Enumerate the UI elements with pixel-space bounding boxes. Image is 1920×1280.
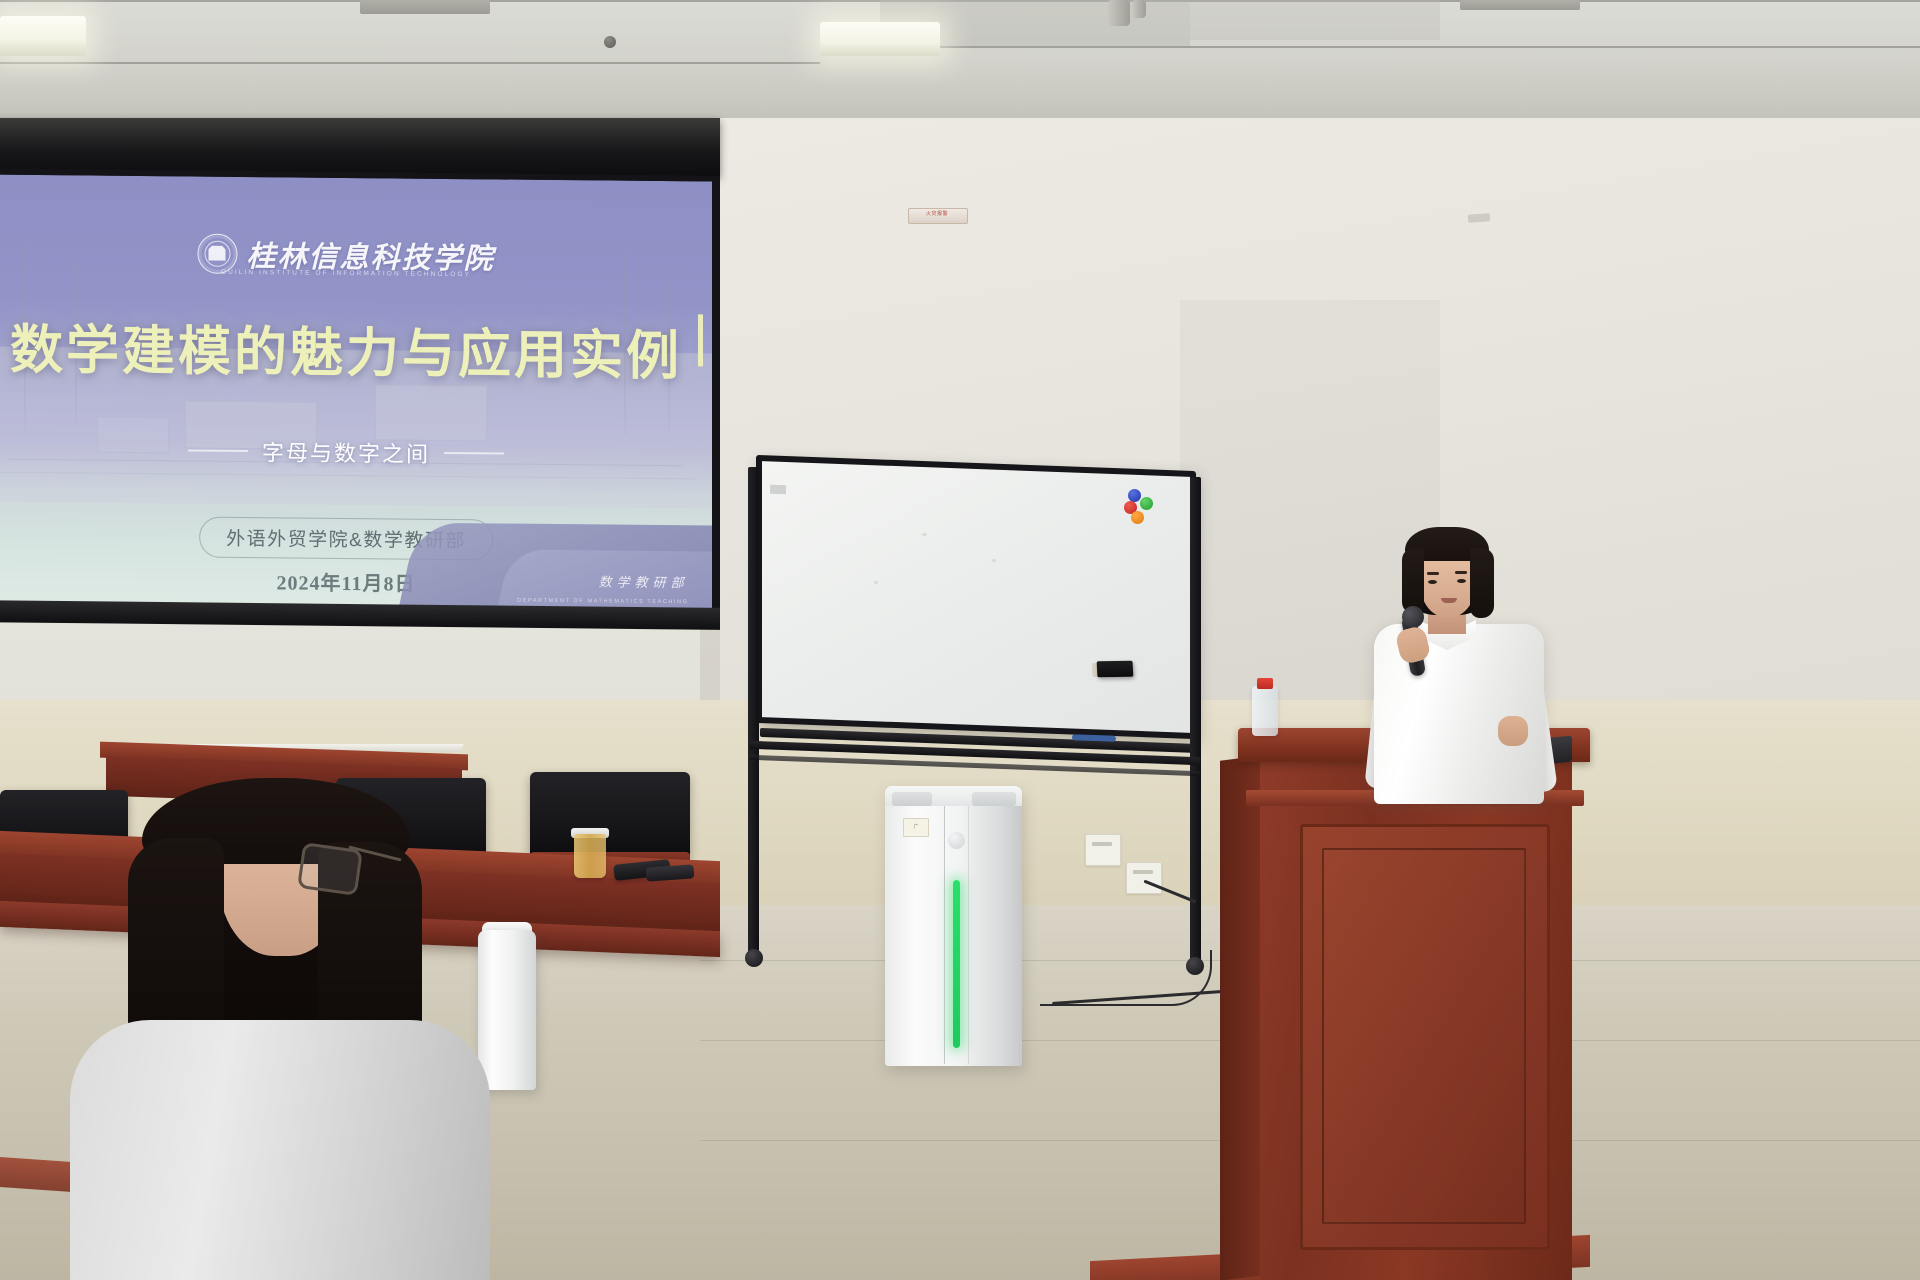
slide-subtitle: 字母与数字之间 — [262, 435, 430, 469]
fire-alarm-label: 火灾报警 — [910, 210, 964, 217]
slide-twig — [24, 287, 48, 300]
attendee-body — [70, 1020, 490, 1280]
projector-screen-housing — [0, 118, 720, 176]
slide-twig — [624, 273, 650, 285]
ceiling-panel — [1190, 0, 1440, 40]
air-purifier-power-button[interactable] — [948, 832, 965, 849]
presenter-hand-right — [1498, 716, 1528, 746]
whiteboard-smudge — [992, 559, 996, 562]
ceiling-vent — [360, 0, 490, 14]
air-purifier-seam — [968, 806, 969, 1064]
presenter-hair-right — [1470, 548, 1494, 618]
ceiling-vent — [1460, 0, 1580, 10]
ceiling-pipe — [1108, 0, 1130, 26]
ceiling-light — [0, 16, 86, 56]
presenter-mouth — [1441, 598, 1457, 603]
thermos-bottle[interactable] — [478, 930, 536, 1090]
whiteboard-sticker — [770, 485, 786, 495]
slide-subtitle-rule-right — [444, 452, 504, 454]
ceiling-light — [820, 22, 940, 56]
slide-institution-name-en: GUILIN INSTITUTE OF INFORMATION TECHNOLO… — [221, 269, 471, 278]
whiteboard-smudge — [874, 581, 878, 584]
slide-building — [375, 385, 487, 442]
slide-twig — [24, 254, 50, 271]
presenter-eye-right — [1457, 579, 1466, 583]
eyeglasses-icon — [297, 842, 363, 896]
tea-cup[interactable] — [574, 834, 606, 878]
projector-screen: 桂林信息科技学院 GUILIN INSTITUTE OF INFORMATION… — [0, 174, 712, 611]
slide-subtitle-rule-left — [188, 450, 248, 452]
presenter-brow-right — [1455, 571, 1467, 574]
whiteboard-eraser[interactable] — [1097, 661, 1134, 678]
socket-slot — [1092, 842, 1112, 846]
podium — [1238, 728, 1590, 1280]
university-seal-icon — [197, 233, 237, 273]
ceiling-seam — [820, 46, 1920, 48]
water-bottle-cap — [1257, 678, 1273, 689]
slide-subtitle-group: 字母与数字之间 — [188, 434, 504, 469]
air-purifier-badge: 广 — [903, 818, 929, 837]
presenter-eye-left — [1428, 580, 1437, 584]
classroom-scene: 火灾报警 桂林信息科技学院 GUILIN INSTITUTE OF INFORM… — [0, 0, 1920, 1280]
air-purifier-grille — [972, 792, 1016, 806]
presenter-brow-left — [1427, 572, 1439, 575]
slide-watermark-cn: 数学教研部 — [599, 572, 689, 592]
whiteboard-caster — [745, 949, 763, 967]
presenter-hair-left — [1402, 548, 1424, 614]
ceiling-speaker-icon — [604, 36, 616, 48]
air-purifier-grille — [892, 792, 932, 806]
wall-scuff — [1468, 213, 1491, 223]
air-purifier-seam — [944, 806, 945, 1064]
chair-back[interactable] — [530, 772, 690, 860]
socket-slot — [1133, 870, 1153, 874]
slide-title: 数学建模的魅力与应用实例 — [10, 308, 682, 390]
air-purifier-status-led — [953, 880, 960, 1048]
whiteboard-leg-right — [1190, 477, 1201, 963]
podium-front-inset — [1322, 848, 1526, 1224]
ceiling-seam — [0, 62, 820, 64]
slide-date: 2024年11月8日 — [277, 566, 416, 596]
magnet-orange[interactable] — [1131, 511, 1144, 524]
presentation-slide: 桂林信息科技学院 GUILIN INSTITUTE OF INFORMATION… — [0, 174, 712, 611]
slide-title-accent-bar — [698, 315, 703, 367]
water-bottle[interactable] — [1252, 686, 1278, 736]
podium-side-panel — [1220, 755, 1264, 1280]
wall-socket[interactable] — [1126, 862, 1162, 894]
whiteboard-smudge — [922, 533, 927, 536]
wall-socket[interactable] — [1085, 834, 1121, 866]
whiteboard-leg-left — [748, 467, 759, 959]
ceiling-pipe — [1132, 0, 1146, 18]
magnet-green[interactable] — [1140, 497, 1153, 510]
slide-building — [97, 416, 169, 453]
